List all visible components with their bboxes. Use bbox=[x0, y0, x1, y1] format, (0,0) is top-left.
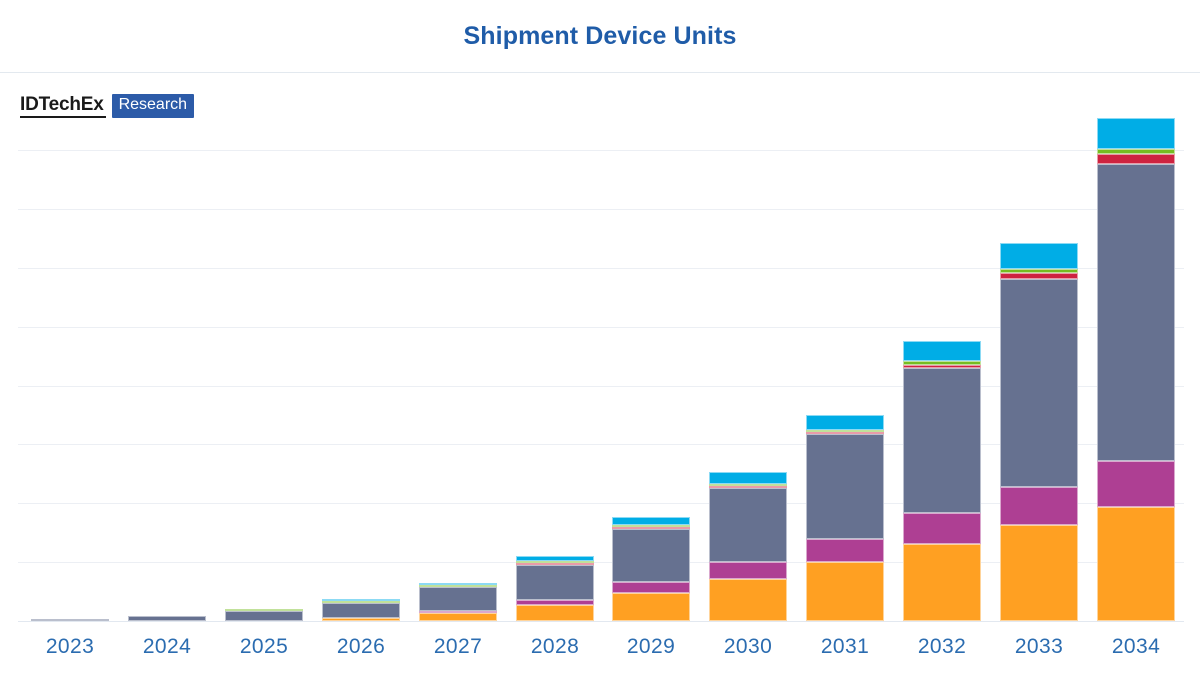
bar-stack-2033[interactable] bbox=[1000, 243, 1078, 621]
logo-wordmark: IDTechEx bbox=[20, 94, 106, 118]
logo-research-badge: Research bbox=[112, 94, 194, 118]
x-axis-label-2024: 2024 bbox=[128, 635, 206, 659]
bar-segment[interactable] bbox=[806, 539, 884, 563]
bar-stack-2029[interactable] bbox=[612, 517, 690, 621]
x-axis-label-2033: 2033 bbox=[1000, 635, 1078, 659]
bar-segment[interactable] bbox=[903, 368, 981, 514]
bar-stack-2034[interactable] bbox=[1097, 118, 1175, 621]
x-axis-label-2027: 2027 bbox=[419, 635, 497, 659]
chart-page: Shipment Device Units IDTechEx Research … bbox=[0, 0, 1200, 676]
bar-segment[interactable] bbox=[903, 544, 981, 621]
bar-segment[interactable] bbox=[709, 579, 787, 621]
bar-series-container bbox=[0, 150, 1200, 621]
bar-stack-2030[interactable] bbox=[709, 472, 787, 621]
x-axis: 2023202420252026202720282029203020312032… bbox=[0, 621, 1200, 676]
x-axis-label-2032: 2032 bbox=[903, 635, 981, 659]
bar-segment[interactable] bbox=[806, 434, 884, 538]
bar-segment[interactable] bbox=[709, 562, 787, 579]
x-axis-label-2031: 2031 bbox=[806, 635, 884, 659]
bar-segment[interactable] bbox=[709, 472, 787, 484]
bar-segment[interactable] bbox=[806, 562, 884, 621]
x-axis-label-2025: 2025 bbox=[225, 635, 303, 659]
bar-segment[interactable] bbox=[419, 613, 497, 621]
x-axis-label-2030: 2030 bbox=[709, 635, 787, 659]
bar-segment[interactable] bbox=[612, 517, 690, 525]
bar-segment[interactable] bbox=[806, 415, 884, 430]
bar-segment[interactable] bbox=[903, 513, 981, 543]
x-axis-label-2026: 2026 bbox=[322, 635, 400, 659]
bar-segment[interactable] bbox=[1000, 279, 1078, 488]
x-axis-label-2028: 2028 bbox=[516, 635, 594, 659]
bar-segment[interactable] bbox=[419, 587, 497, 611]
bar-segment[interactable] bbox=[1097, 154, 1175, 164]
idtechex-logo: IDTechEx Research bbox=[20, 94, 194, 118]
bar-stack-2028[interactable] bbox=[516, 556, 594, 621]
bar-segment[interactable] bbox=[709, 488, 787, 562]
bar-segment[interactable] bbox=[225, 611, 303, 621]
bar-stack-2027[interactable] bbox=[419, 583, 497, 621]
bar-segment[interactable] bbox=[612, 582, 690, 593]
bar-stack-2031[interactable] bbox=[806, 415, 884, 621]
bar-stack-2026[interactable] bbox=[322, 599, 400, 621]
bar-stack-2025[interactable] bbox=[225, 609, 303, 621]
title-divider bbox=[0, 72, 1200, 73]
plot-area bbox=[0, 150, 1200, 621]
bar-segment[interactable] bbox=[1097, 461, 1175, 506]
bar-segment[interactable] bbox=[1097, 164, 1175, 461]
bar-segment[interactable] bbox=[516, 605, 594, 621]
x-axis-label-2034: 2034 bbox=[1097, 635, 1175, 659]
page-title: Shipment Device Units bbox=[0, 22, 1200, 51]
bar-segment[interactable] bbox=[516, 565, 594, 600]
x-axis-label-2029: 2029 bbox=[612, 635, 690, 659]
bar-segment[interactable] bbox=[612, 593, 690, 621]
bar-segment[interactable] bbox=[322, 603, 400, 619]
bar-segment[interactable] bbox=[1000, 525, 1078, 621]
bar-segment[interactable] bbox=[903, 341, 981, 361]
x-axis-label-2023: 2023 bbox=[31, 635, 109, 659]
bar-segment[interactable] bbox=[1097, 507, 1175, 621]
bar-stack-2032[interactable] bbox=[903, 341, 981, 621]
bar-segment[interactable] bbox=[612, 529, 690, 583]
bar-segment[interactable] bbox=[1000, 243, 1078, 268]
bar-segment[interactable] bbox=[1000, 487, 1078, 525]
bar-segment[interactable] bbox=[1097, 118, 1175, 149]
